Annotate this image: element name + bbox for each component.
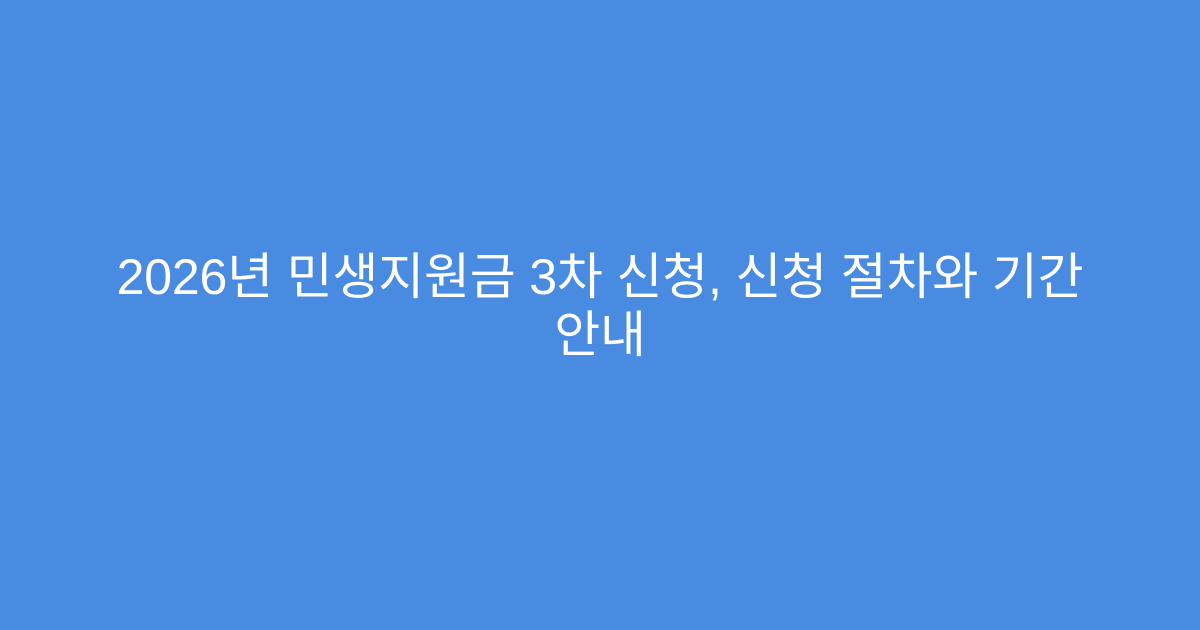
page-title: 2026년 민생지원금 3차 신청, 신청 절차와 기간 안내 [100, 248, 1100, 364]
headline-block: 2026년 민생지원금 3차 신청, 신청 절차와 기간 안내 [95, 248, 1105, 364]
og-card-canvas: 2026년 민생지원금 3차 신청, 신청 절차와 기간 안내 [0, 0, 1200, 630]
